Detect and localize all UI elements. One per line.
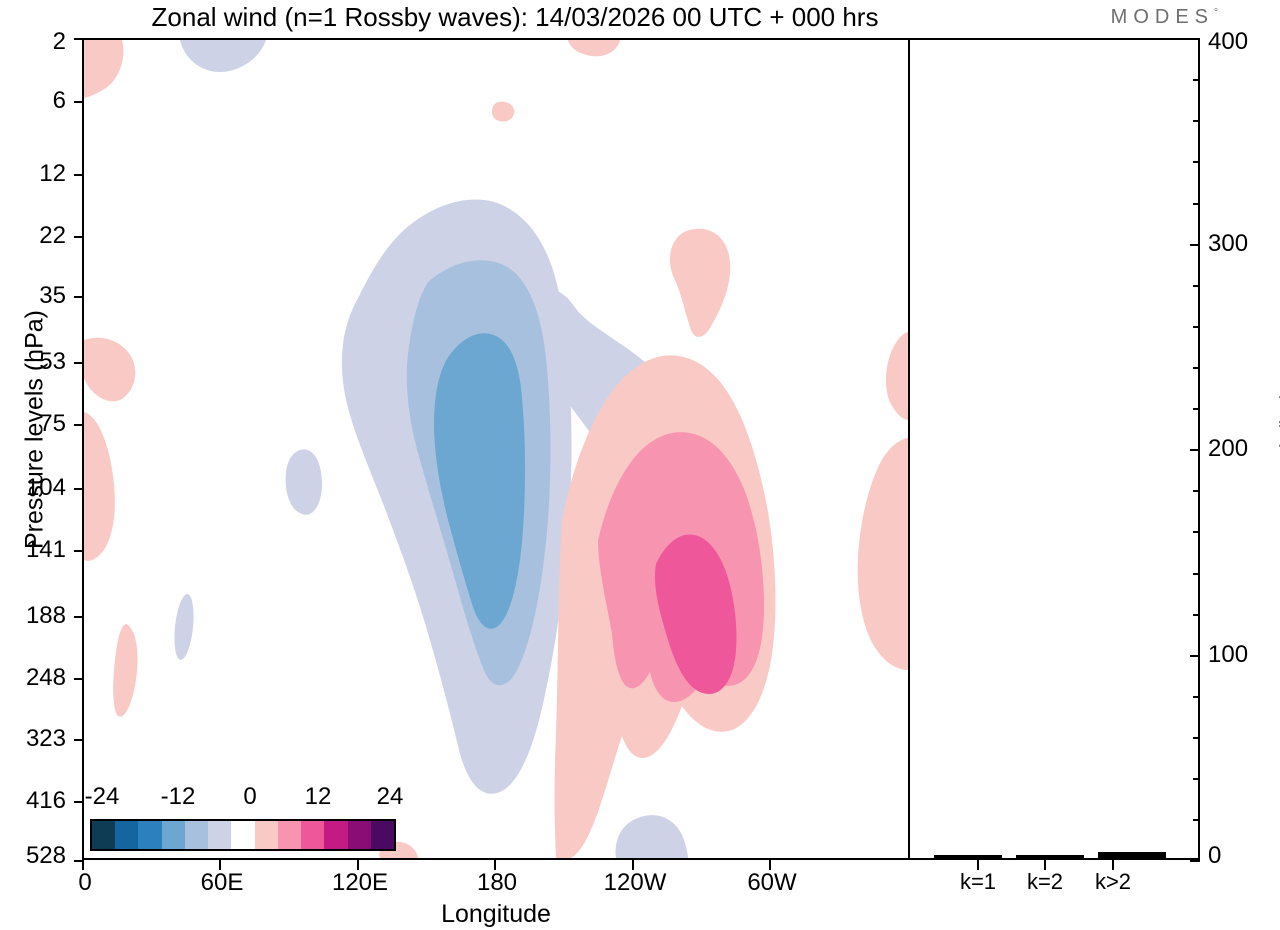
y-tick-mark [74, 550, 84, 552]
colorbar-swatch-10 [324, 821, 347, 849]
x-tick-label: 180 [477, 869, 517, 897]
right-minor-tick [1193, 819, 1200, 821]
colorbar-swatch-2 [138, 821, 161, 849]
right-minor-tick [1193, 120, 1200, 122]
y-tick-mark [74, 678, 84, 680]
right-minor-tick [1193, 490, 1200, 492]
right-minor-tick [1193, 408, 1200, 410]
x-tick-label: 120W [604, 869, 667, 897]
right-axis-title: Energy (J/kg) [1276, 275, 1280, 655]
y-tick-label: 528 [26, 842, 66, 870]
chart-canvas: Zonal wind (n=1 Rossby waves): 14/03/202… [0, 0, 1280, 930]
colorbar-swatch-12 [371, 821, 394, 849]
colorbar-label: 24 [377, 783, 404, 811]
y-tick-label: 323 [26, 725, 66, 753]
right-tick-mark [1190, 449, 1200, 451]
modes-logo: MODES° [1111, 6, 1218, 29]
x-tick-label: 60W [747, 869, 796, 897]
y-tick-label: 12 [39, 160, 66, 188]
x-tick-label: 60E [201, 869, 244, 897]
right-minor-tick [1193, 573, 1200, 575]
y-tick-mark [74, 296, 84, 298]
y-tick-mark [74, 616, 84, 618]
x-tick-label: 0 [78, 869, 91, 897]
modes-logo-mark: ° [1214, 7, 1218, 18]
right-tick-mark [1190, 860, 1200, 862]
k-tick-label: k=2 [1027, 869, 1063, 895]
k-tick-label: k>2 [1095, 869, 1131, 895]
y-tick-mark [74, 236, 84, 238]
y-tick-mark [74, 739, 84, 741]
colorbar-swatch-1 [115, 821, 138, 849]
y-tick-mark [74, 488, 84, 490]
colorbar-label: 12 [305, 783, 332, 811]
x-axis-title: Longitude [84, 900, 908, 929]
right-tick-mark [1190, 655, 1200, 657]
right-tick-label: 400 [1208, 28, 1248, 56]
k-tick-label: k=1 [960, 869, 996, 895]
right-minor-tick [1193, 203, 1200, 205]
right-minor-tick [1193, 326, 1200, 328]
right-tick-label: 100 [1208, 641, 1248, 669]
colorbar-labels: -24 -12 0 12 24 [90, 783, 396, 813]
modes-logo-text: MODES [1111, 6, 1214, 28]
y-tick-mark [74, 101, 84, 103]
colorbar-swatch-7 [255, 821, 278, 849]
right-tick-label: 300 [1208, 230, 1248, 258]
colorbar [90, 819, 396, 851]
colorbar-swatch-8 [278, 821, 301, 849]
page-title: Zonal wind (n=1 Rossby waves): 14/03/202… [0, 2, 1030, 33]
right-minor-tick [1193, 531, 1200, 533]
right-minor-tick [1193, 696, 1200, 698]
y-tick-label: 6 [53, 87, 66, 115]
panel-divider [908, 38, 910, 860]
right-tick-label: 200 [1208, 435, 1248, 463]
right-minor-tick [1193, 285, 1200, 287]
right-minor-tick [1193, 367, 1200, 369]
right-tick-mark [1190, 38, 1200, 40]
right-minor-tick [1193, 614, 1200, 616]
right-minor-tick [1193, 737, 1200, 739]
y-tick-mark [74, 424, 84, 426]
colorbar-label: -12 [161, 783, 196, 811]
colorbar-swatch-5 [208, 821, 231, 849]
y-axis-title: Pressure levels (hPa) [21, 240, 50, 620]
colorbar-swatch-6 [231, 821, 254, 849]
plot-frame [82, 38, 1200, 860]
colorbar-swatch-11 [348, 821, 371, 849]
colorbar-label: 0 [243, 783, 256, 811]
y-tick-mark [74, 38, 84, 40]
y-tick-label: 416 [26, 787, 66, 815]
right-tick-label: 0 [1208, 842, 1221, 870]
colorbar-swatch-4 [185, 821, 208, 849]
right-tick-mark [1190, 244, 1200, 246]
y-tick-mark [74, 174, 84, 176]
y-tick-mark [74, 362, 84, 364]
colorbar-swatch-3 [162, 821, 185, 849]
right-minor-tick [1193, 79, 1200, 81]
y-tick-label: 2 [53, 28, 66, 56]
y-tick-mark [74, 801, 84, 803]
x-tick-label: 120E [332, 869, 388, 897]
colorbar-label: -24 [85, 783, 120, 811]
colorbar-swatch-9 [301, 821, 324, 849]
right-minor-tick [1193, 161, 1200, 163]
colorbar-swatch-0 [92, 821, 115, 849]
right-minor-tick [1193, 778, 1200, 780]
y-tick-label: 248 [26, 664, 66, 692]
